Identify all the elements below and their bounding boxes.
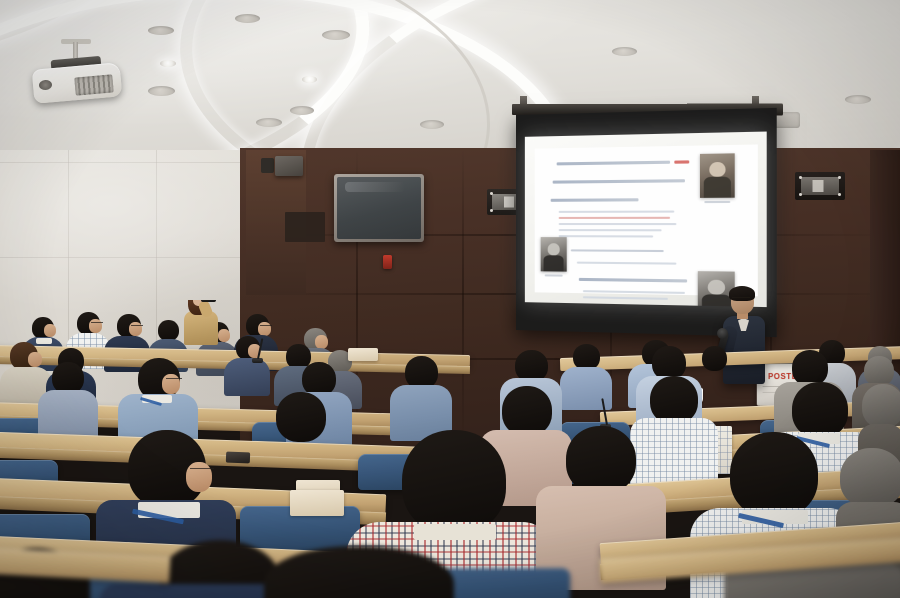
slide-body-line-5 [559,235,653,237]
projector-mount-pole [73,42,78,58]
slide-body-line-2 [559,217,670,219]
slide-body-line-4 [559,229,662,231]
wall-speaker-icon [275,156,303,176]
portrait-body [544,255,564,272]
portrait-head [548,243,560,255]
slide-heading-line-3 [551,198,639,202]
attendee-head [264,546,454,598]
downlight-1 [148,26,174,35]
monitor-glare [345,182,405,192]
wall-access-panel [285,212,325,242]
wall-monitor [334,174,424,242]
downlight-6 [290,106,314,115]
slide-chaos-heading [571,249,664,252]
monitor-screen [337,177,421,239]
portrait-body [704,176,731,197]
slide-chaos-body-1 [577,262,677,265]
lecture-hall-photo: POSTECH [0,0,900,598]
foreground-group [0,300,900,598]
downlight-3 [322,30,350,40]
slide-portrait-laplace [700,153,735,198]
slide-heading-accent-1 [674,160,689,163]
projector-vent [74,74,113,95]
downlight-4 [148,86,175,96]
slide-portrait-caption-lorenz [545,274,563,276]
slide-portrait-caption-laplace [704,201,730,203]
screen-surface [525,132,767,308]
slide-body-line-3 [559,223,677,225]
ceiling-projector [33,56,121,102]
downlight-lit-1 [160,60,176,67]
presentation-slide [535,144,758,296]
downlight-lit-2 [302,76,317,83]
slide-heading-line-1 [557,161,670,166]
downlight-2 [235,14,260,23]
downlight-5 [256,118,282,127]
slide-quantum-body-1 [583,290,685,294]
slide-body-line-1 [559,211,675,213]
wall-light-fixture-right [795,172,845,200]
attendee-f3 [264,546,454,598]
downlight-9 [845,95,871,104]
downlight-7 [612,47,637,56]
portrait-head [709,161,725,176]
slide-heading-line-2 [553,179,685,183]
slide-portrait-lorenz [541,237,567,272]
wall-light-bulb-2 [813,180,824,192]
wall-light-bulb [504,197,514,208]
slide-quantum-heading [579,278,687,283]
downlight-8 [420,120,444,129]
wall-speaker-small-icon [261,158,274,173]
audience-seating [0,300,900,598]
fire-alarm-icon [383,255,392,269]
